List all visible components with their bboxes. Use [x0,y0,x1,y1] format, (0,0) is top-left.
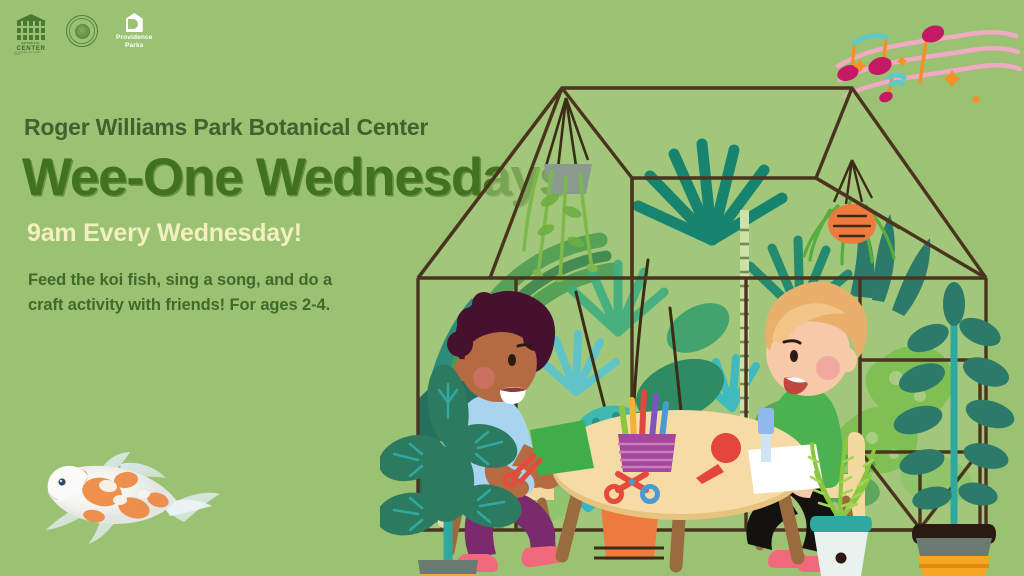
parks-label-line1: Providence [116,34,153,41]
koi-fish-illustration [24,438,224,550]
greenhouse-grid-icon [16,14,46,40]
description-line-2: craft activity with friends! For ages 2-… [28,296,330,314]
providence-parks-logo: Providence Parks [116,13,153,49]
botanical-center-logo: BOTANICAL CENTER AT ROGER WILLIAMS PARK [14,14,48,56]
eyebrow-text: Roger Williams Park Botanical Center [24,114,428,141]
parks-label-line2: Parks [125,42,143,49]
schedule-text: 9am Every Wednesday! [27,219,302,248]
parks-house-icon [126,13,143,32]
description-line-1: Feed the koi fish, sing a song, and do a [28,271,332,289]
description-text: Feed the koi fish, sing a song, and do a… [28,268,332,318]
botanical-title: CENTER [16,45,45,52]
poster-canvas: BOTANICAL CENTER AT ROGER WILLIAMS PARK … [0,0,1024,576]
logo-bar: BOTANICAL CENTER AT ROGER WILLIAMS PARK … [14,14,153,56]
city-seal-icon [66,15,98,47]
greenhouse-scene [380,60,1024,576]
botanical-subtitle: AT ROGER WILLIAMS PARK [14,52,48,56]
